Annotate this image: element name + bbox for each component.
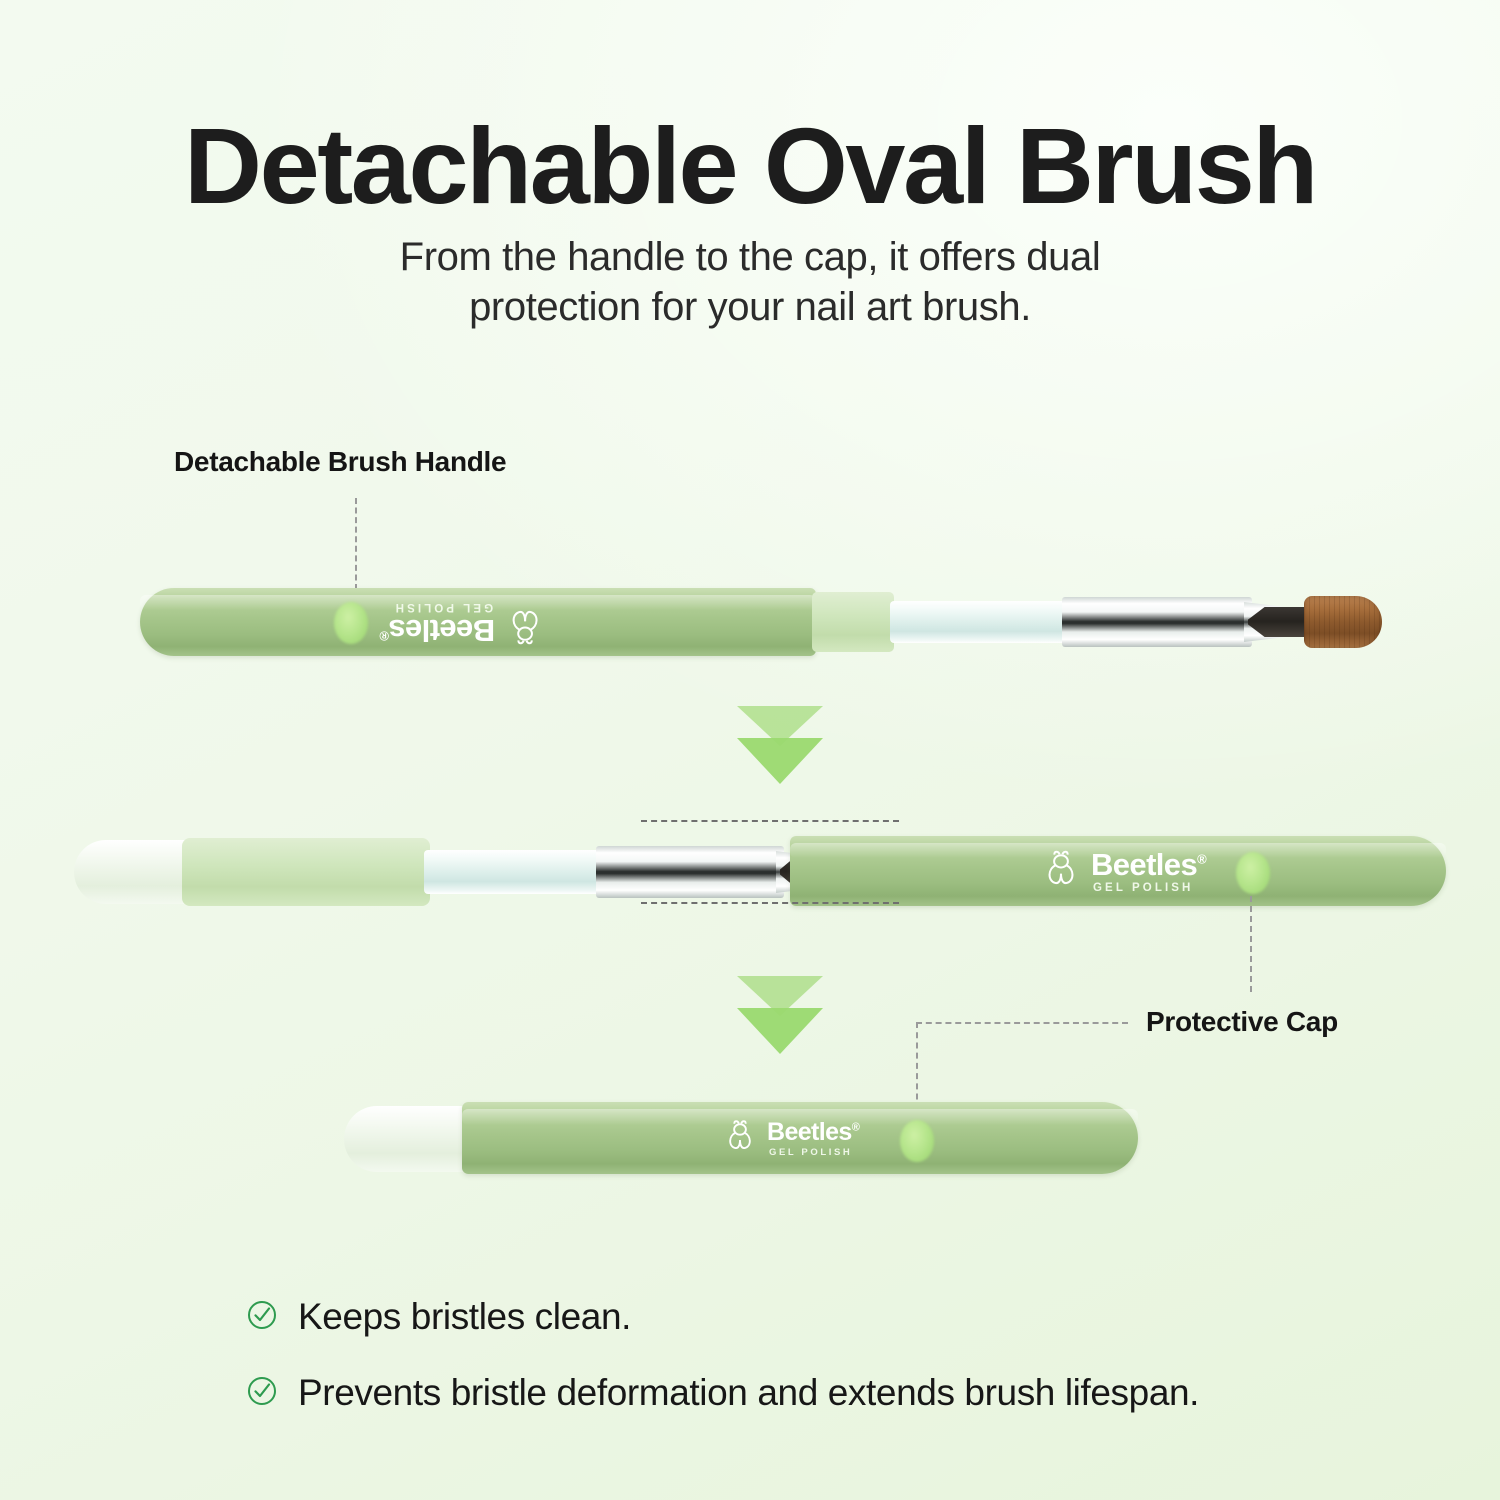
brand-name: Beetles® xyxy=(1091,849,1206,880)
check-circle-icon xyxy=(246,1299,278,1336)
cap-highlight-dot xyxy=(1236,852,1270,894)
brand-lockup-cap: Beetles® GEL POLISH xyxy=(1040,848,1206,895)
list-item: Prevents bristle deformation and extends… xyxy=(246,1372,1199,1414)
infographic-canvas: Detachable Oval Brush From the handle to… xyxy=(0,0,1500,1500)
alignment-guide-top xyxy=(641,820,899,822)
brand-tagline: GEL POLISH xyxy=(380,601,493,613)
subtitle-line-1: From the handle to the cap, it offers du… xyxy=(340,232,1160,282)
leader-line-cap-vertical xyxy=(1250,896,1252,992)
chrome-ferrule xyxy=(1062,597,1252,647)
cap-highlight-dot-3 xyxy=(900,1120,934,1162)
beetle-logo-icon xyxy=(722,1118,758,1159)
callout-detachable-brush-handle: Detachable Brush Handle xyxy=(174,446,506,478)
double-chevron-down-icon-2 xyxy=(737,976,823,1056)
page-subtitle: From the handle to the cap, it offers du… xyxy=(340,232,1160,333)
leader-line-cap-horizontal xyxy=(916,1022,1128,1024)
leader-line-handle xyxy=(355,498,357,590)
brand-name: Beetles® xyxy=(380,615,495,646)
chevron-triangle-lower xyxy=(737,738,823,784)
brand-lockup-capped: Beetles® GEL POLISH xyxy=(722,1118,859,1159)
brand-tagline: GEL POLISH xyxy=(1093,883,1206,895)
page-title: Detachable Oval Brush xyxy=(0,108,1500,225)
handle-collar xyxy=(812,592,894,652)
brush-butt-nose xyxy=(74,840,192,904)
beetle-logo-icon xyxy=(1040,848,1082,895)
beetle-logo-icon xyxy=(504,600,546,647)
brand-name: Beetles® xyxy=(767,1120,859,1145)
alignment-guide-bottom xyxy=(641,902,899,904)
mint-nose xyxy=(344,1106,474,1172)
chrome-ferrule-2 xyxy=(596,846,784,898)
double-chevron-down-icon-1 xyxy=(737,706,823,786)
chevron-triangle-lower xyxy=(737,1008,823,1054)
brand-tagline: GEL POLISH xyxy=(769,1148,859,1158)
benefit-text: Prevents bristle deformation and extends… xyxy=(298,1372,1199,1414)
mint-shaft-2 xyxy=(424,850,604,894)
benefit-list: Keeps bristles clean. Prevents bristle d… xyxy=(246,1296,1199,1448)
brand-lockup-inverted: Beetles® GEL POLISH xyxy=(380,600,546,647)
brush-butt-grip xyxy=(182,838,430,906)
check-circle-icon xyxy=(246,1375,278,1412)
mint-shaft xyxy=(890,601,1070,643)
list-item: Keeps bristles clean. xyxy=(246,1296,1199,1338)
highlight-dot xyxy=(334,602,368,644)
callout-protective-cap: Protective Cap xyxy=(1146,1006,1338,1038)
benefit-text: Keeps bristles clean. xyxy=(298,1296,631,1338)
subtitle-line-2: protection for your nail art brush. xyxy=(340,282,1160,332)
oval-bristles xyxy=(1304,596,1382,648)
